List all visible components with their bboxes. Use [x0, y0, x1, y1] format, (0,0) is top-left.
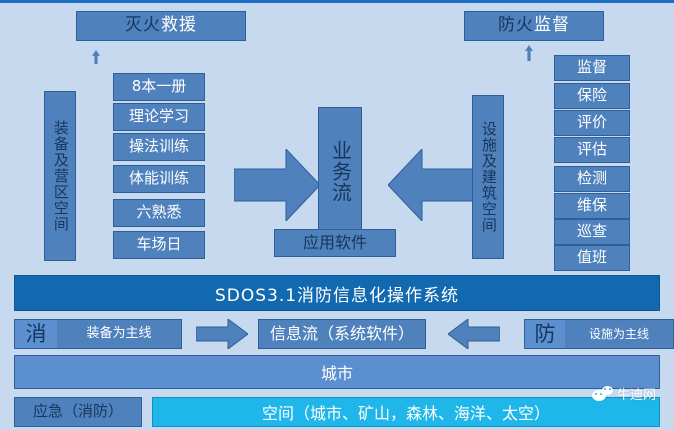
bottom-right-box[interactable]: 空间（城市、矿山，森林、海洋、太空）	[152, 397, 660, 427]
left-item-label: 8本一册	[132, 79, 187, 95]
left-item-1[interactable]: 理论学习	[113, 103, 205, 131]
right-item-0[interactable]: 监督	[554, 55, 630, 81]
arrow-up-icon-left	[90, 49, 102, 63]
watermark: 牛迪网	[592, 384, 656, 403]
watermark-text: 牛迪网	[617, 384, 656, 403]
flow-right-box[interactable]: 防 设施为主线	[524, 319, 674, 349]
flow-left-box[interactable]: 消 装备为主线	[14, 319, 182, 349]
arrow-up-icon-right	[523, 45, 535, 61]
bottom-right-text: 空间（城市、矿山，森林、海洋、太空）	[262, 400, 550, 424]
center-business-flow-box[interactable]: 业务流	[318, 107, 362, 235]
os-band[interactable]: SDOS3.1消防信息化操作系统	[14, 275, 660, 311]
bottom-left-box[interactable]: 应急（消防）	[14, 397, 142, 427]
arrow-left-icon-center	[388, 149, 474, 221]
flow-left-tag: 消	[15, 320, 57, 348]
right-item-7[interactable]: 值班	[554, 245, 630, 271]
center-app-software-text: 应用软件	[303, 235, 367, 252]
left-item-2[interactable]: 操法训练	[113, 133, 205, 161]
center-app-software-box[interactable]: 应用软件	[274, 229, 396, 257]
left-item-label: 理论学习	[129, 109, 189, 125]
flow-right-text: 设施为主线	[565, 328, 673, 341]
flow-left-text: 装备为主线	[57, 327, 181, 341]
header-right-part-a: 防火	[498, 17, 534, 35]
right-item-label: 维保	[577, 198, 607, 214]
left-item-label: 车场日	[136, 237, 181, 253]
arrow-right-icon-flow	[196, 319, 248, 349]
left-item-0[interactable]: 8本一册	[113, 73, 205, 101]
header-left-part-b: 救援	[161, 17, 197, 35]
right-item-6[interactable]: 巡查	[554, 219, 630, 245]
left-item-label: 操法训练	[129, 139, 189, 155]
left-item-5[interactable]: 车场日	[113, 231, 205, 259]
right-item-label: 评估	[577, 142, 607, 158]
arrow-right-icon-center	[234, 149, 320, 221]
right-item-3[interactable]: 评估	[554, 137, 630, 163]
os-band-text: SDOS3.1消防信息化操作系统	[215, 281, 459, 306]
right-vertical-label-box[interactable]: 设施及建筑空间	[472, 95, 504, 259]
header-right-part-b: 监督	[534, 17, 570, 35]
right-item-label: 监督	[577, 60, 607, 76]
left-item-3[interactable]: 体能训练	[113, 165, 205, 193]
right-item-5[interactable]: 维保	[554, 193, 630, 219]
right-item-4[interactable]: 检测	[554, 166, 630, 192]
right-item-label: 检测	[577, 171, 607, 187]
right-item-1[interactable]: 保险	[554, 83, 630, 109]
right-item-label: 评价	[577, 115, 607, 131]
right-item-label: 巡查	[577, 224, 607, 240]
diagram-canvas: 灭火救援 防火监督 装备及营区空间 8本一册 理论学习 操法训练 体能训练 六熟…	[0, 0, 674, 430]
bottom-left-text: 应急（消防）	[33, 404, 123, 420]
header-box-fire-supervision[interactable]: 防火监督	[464, 11, 604, 41]
left-vertical-label-text: 装备及营区空间	[52, 120, 68, 232]
center-business-flow-text: 业务流	[330, 140, 351, 203]
left-item-label: 六熟悉	[136, 205, 181, 221]
flow-right-tag: 防	[525, 320, 565, 348]
right-vertical-label-text: 设施及建筑空间	[480, 121, 496, 233]
left-vertical-label-box[interactable]: 装备及营区空间	[44, 91, 76, 261]
flow-center-box[interactable]: 信息流（系统软件）	[258, 319, 426, 349]
wechat-icon	[592, 386, 614, 402]
city-band-text: 城市	[321, 360, 353, 384]
header-left-part-a: 灭火	[125, 17, 161, 35]
header-box-fire-rescue[interactable]: 灭火救援	[76, 11, 246, 41]
arrow-left-icon-flow	[448, 319, 500, 349]
city-band[interactable]: 城市	[14, 355, 660, 389]
left-item-label: 体能训练	[129, 171, 189, 187]
right-item-2[interactable]: 评价	[554, 110, 630, 136]
flow-center-text: 信息流（系统软件）	[270, 326, 414, 343]
right-item-label: 保险	[577, 88, 607, 104]
right-item-label: 值班	[577, 250, 607, 266]
left-item-4[interactable]: 六熟悉	[113, 199, 205, 227]
